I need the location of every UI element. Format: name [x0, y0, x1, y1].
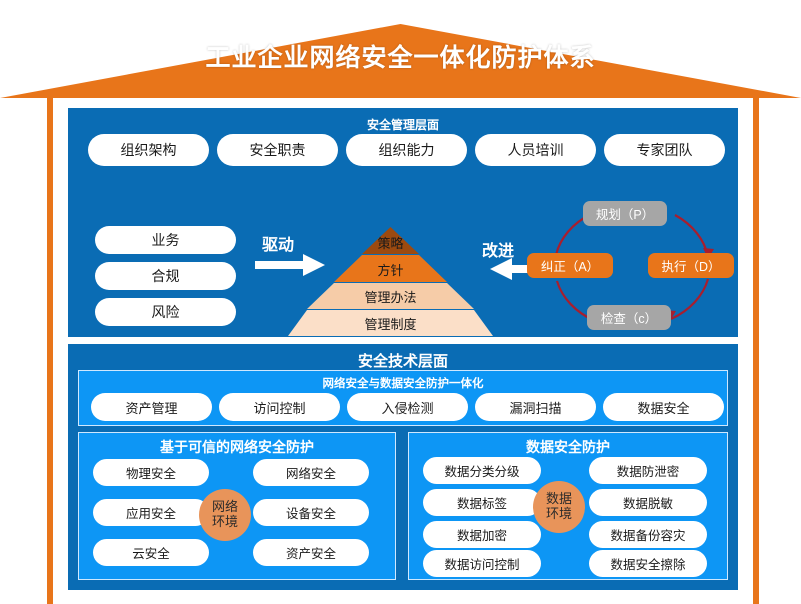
pyramid-level-0: 策略 [288, 233, 493, 252]
data-left-item-0[interactable]: 数据分类分级 [423, 457, 541, 484]
data-right-item-0[interactable]: 数据防泄密 [589, 457, 707, 484]
technical-layer-title: 安全技术层面 [68, 350, 738, 371]
tech-pill-4[interactable]: 数据安全 [603, 393, 724, 421]
integration-strip: 网络安全与数据安全防护一体化 资产管理 访问控制 入侵检测 漏洞扫描 数据安全 [78, 370, 728, 426]
data-left-item-1[interactable]: 数据标签 [423, 489, 541, 516]
integration-strip-title: 网络安全与数据安全防护一体化 [79, 375, 727, 391]
data-environment-line2: 环境 [546, 507, 572, 522]
network-left-item-1[interactable]: 应用安全 [93, 499, 209, 526]
network-right-item-1[interactable]: 设备安全 [253, 499, 369, 526]
data-right-item-1[interactable]: 数据脱敏 [589, 489, 707, 516]
data-security-title: 数据安全防护 [409, 437, 727, 457]
house-wall-left [47, 96, 53, 604]
network-environment-line1: 网络 [212, 500, 238, 515]
network-security-title: 基于可信的网络安全防护 [79, 437, 395, 457]
data-left-item-2[interactable]: 数据加密 [423, 521, 541, 548]
pdca-node-plan[interactable]: 规划（P） [583, 201, 667, 226]
pdca-node-check[interactable]: 检查（c） [587, 305, 671, 330]
driver-pill-2[interactable]: 风险 [95, 298, 236, 326]
mgmt-pill-1[interactable]: 安全职责 [217, 134, 338, 166]
pdca-cycle: 规划（P） 执行（D） 检查（c） 纠正（A） [525, 195, 740, 337]
pyramid-level-1: 方针 [288, 260, 493, 279]
house-wall-right [753, 96, 759, 604]
pdca-node-do[interactable]: 执行（D） [648, 253, 734, 278]
data-environment-line1: 数据 [546, 492, 572, 507]
policy-pyramid: 策略 方针 管理办法 管理制度 [288, 227, 493, 336]
mgmt-pill-2[interactable]: 组织能力 [346, 134, 467, 166]
network-left-item-0[interactable]: 物理安全 [93, 459, 209, 486]
tech-pill-3[interactable]: 漏洞扫描 [475, 393, 596, 421]
network-security-panel: 基于可信的网络安全防护 物理安全 应用安全 云安全 网络安全 设备安全 资产安全… [78, 432, 396, 580]
management-layer-title: 安全管理层面 [68, 116, 738, 133]
page-title: 工业企业网络安全一体化防护体系 [0, 38, 801, 74]
technical-layer-panel: 安全技术层面 网络安全与数据安全防护一体化 资产管理 访问控制 入侵检测 漏洞扫… [68, 344, 738, 590]
mgmt-pill-3[interactable]: 人员培训 [475, 134, 596, 166]
network-right-item-0[interactable]: 网络安全 [253, 459, 369, 486]
mgmt-pill-4[interactable]: 专家团队 [604, 134, 725, 166]
data-left-item-3[interactable]: 数据访问控制 [423, 550, 541, 577]
driver-pill-0[interactable]: 业务 [95, 226, 236, 254]
pyramid-level-3: 管理制度 [288, 314, 493, 333]
pdca-node-act[interactable]: 纠正（A） [527, 253, 613, 278]
tech-pill-2[interactable]: 入侵检测 [347, 393, 468, 421]
data-right-item-3[interactable]: 数据安全擦除 [589, 550, 707, 577]
network-left-item-2[interactable]: 云安全 [93, 539, 209, 566]
driver-pill-1[interactable]: 合规 [95, 262, 236, 290]
data-environment-circle: 数据 环境 [533, 481, 585, 533]
diagram-canvas: 工业企业网络安全一体化防护体系 安全管理层面 组织架构 安全职责 组织能力 人员… [0, 0, 801, 604]
tech-pill-0[interactable]: 资产管理 [91, 393, 212, 421]
network-environment-circle: 网络 环境 [199, 489, 251, 541]
network-right-item-2[interactable]: 资产安全 [253, 539, 369, 566]
mgmt-pill-0[interactable]: 组织架构 [88, 134, 209, 166]
data-right-item-2[interactable]: 数据备份容灾 [589, 521, 707, 548]
network-environment-line2: 环境 [212, 515, 238, 530]
pyramid-level-2: 管理办法 [288, 287, 493, 306]
data-security-panel: 数据安全防护 数据分类分级 数据标签 数据加密 数据访问控制 数据防泄密 数据脱… [408, 432, 728, 580]
tech-pill-1[interactable]: 访问控制 [219, 393, 340, 421]
